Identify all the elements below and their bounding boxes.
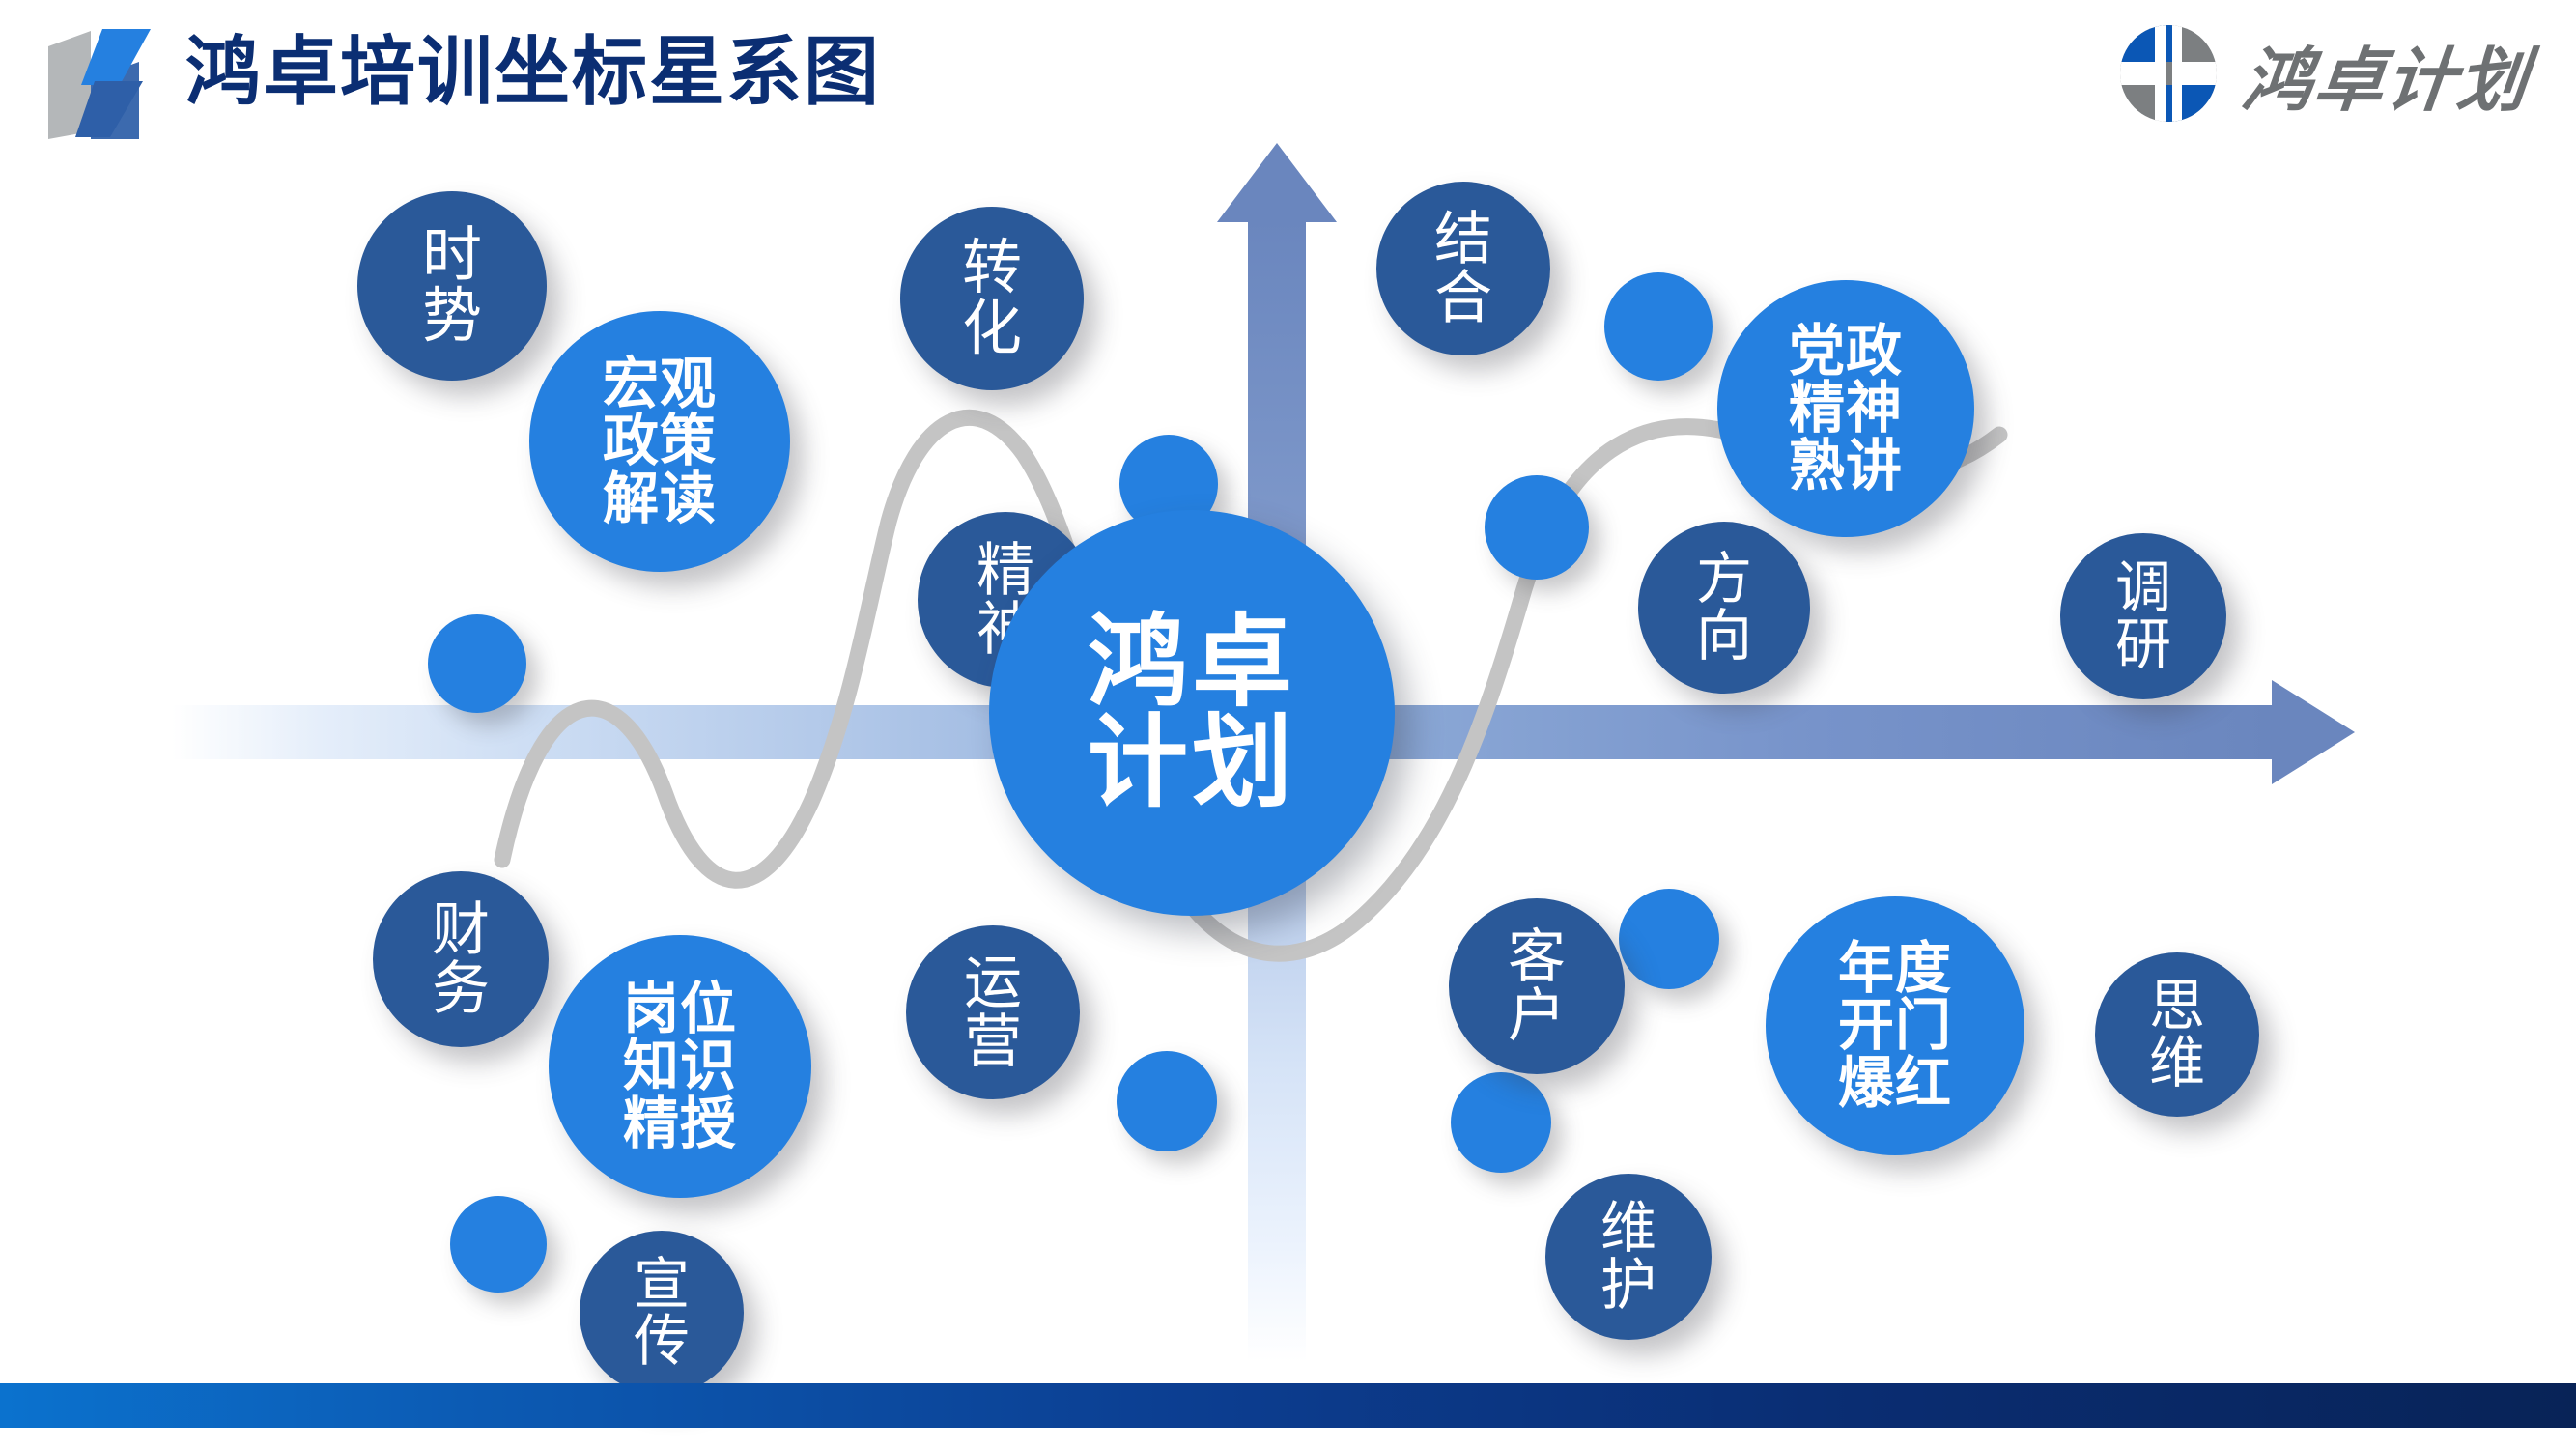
hongzhuo-ribbon-mark	[46, 25, 182, 139]
topic-node-label: 思维	[2095, 978, 2259, 1092]
accent-dot	[1117, 1051, 1217, 1151]
topic-node-label: 年度开门爆红	[1766, 940, 2024, 1111]
topic-node-xuanchuan[interactable]: 宣传	[580, 1231, 744, 1395]
topic-node-diaoyan[interactable]: 调研	[2060, 533, 2226, 699]
footer-accent-bar	[0, 1383, 2576, 1428]
accent-dot	[428, 614, 526, 713]
topic-node-label: 时势	[357, 225, 547, 347]
topic-node-fangxiang[interactable]: 方向	[1638, 522, 1810, 694]
brand-logo: 鸿卓计划	[2118, 23, 2530, 124]
topic-node-label: 客户	[1449, 927, 1625, 1045]
hongzhuo-circle-logo	[2118, 23, 2219, 124]
topic-node-label: 财务	[373, 900, 549, 1018]
page-title: 鸿卓培训坐标星系图	[185, 33, 881, 112]
brand-logo-text: 鸿卓计划	[2238, 23, 2534, 125]
topic-node-dangzheng[interactable]: 党政精神熟讲	[1717, 280, 1974, 537]
topic-node-hongguan[interactable]: 宏观政策解读	[529, 311, 790, 572]
slide-header: 鸿卓培训坐标星系图 鸿卓计划	[0, 0, 2576, 155]
topic-node-label: 宏观政策解读	[529, 355, 790, 526]
slide-canvas: 鸿卓培训坐标星系图 鸿卓计划	[0, 0, 2576, 1449]
topic-node-kehu[interactable]: 客户	[1449, 898, 1625, 1074]
topic-node-label: 转化	[900, 238, 1084, 359]
topic-node-caiwu[interactable]: 财务	[373, 871, 549, 1047]
topic-node-label: 方向	[1638, 551, 1810, 665]
topic-node-label: 宣传	[580, 1256, 744, 1370]
topic-node-label: 调研	[2060, 559, 2226, 673]
accent-dot	[450, 1196, 547, 1293]
topic-node-label: 党政精神熟讲	[1717, 323, 1974, 494]
center-hub-node[interactable]: 鸿卓计划	[989, 510, 1395, 916]
accent-dot	[1451, 1072, 1551, 1173]
topic-node-yunying[interactable]: 运营	[906, 925, 1080, 1099]
topic-node-weihu[interactable]: 维护	[1545, 1174, 1712, 1340]
horizontal-axis-arrowhead	[2272, 680, 2355, 784]
topic-node-label: 运营	[906, 953, 1080, 1071]
topic-node-siwei[interactable]: 思维	[2095, 952, 2259, 1117]
accent-dot	[1485, 475, 1589, 580]
accent-dot	[1604, 272, 1713, 381]
topic-node-gangwei[interactable]: 岗位知识精授	[549, 935, 811, 1198]
topic-node-label: 维护	[1545, 1200, 1712, 1314]
accent-dot	[1619, 889, 1719, 989]
topic-node-zhuanhua[interactable]: 转化	[900, 207, 1084, 390]
vertical-axis-arrowhead	[1217, 143, 1337, 222]
topic-node-niandu[interactable]: 年度开门爆红	[1766, 896, 2024, 1155]
topic-node-jiehe[interactable]: 结合	[1376, 182, 1550, 355]
topic-node-label: 岗位知识精授	[549, 980, 811, 1151]
topic-node-shishi[interactable]: 时势	[357, 191, 547, 381]
center-hub-label: 鸿卓计划	[989, 612, 1395, 813]
topic-node-label: 结合	[1376, 210, 1550, 327]
